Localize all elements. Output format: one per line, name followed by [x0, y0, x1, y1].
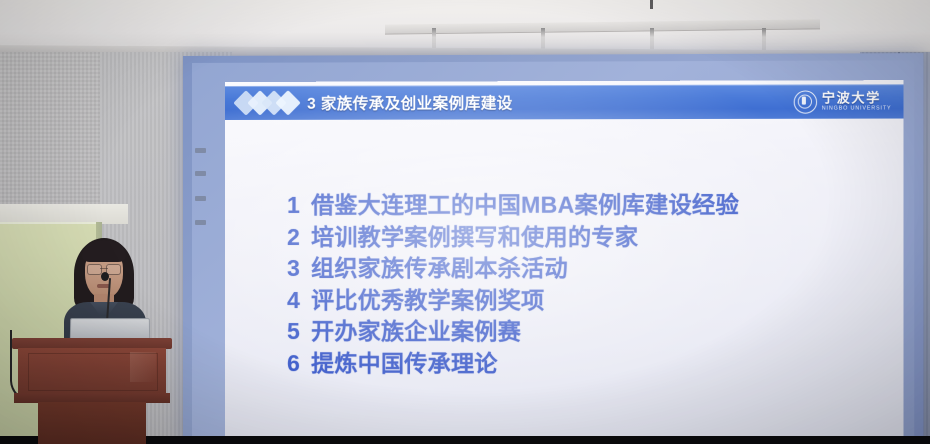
list-item: 3 组织家族传承剧本杀活动	[287, 253, 893, 285]
diamond-cluster-icon	[237, 90, 305, 116]
podium	[12, 338, 172, 444]
list-item-number: 2	[287, 221, 311, 253]
university-logo: 宁波大学 NINGBO UNIVERSITY	[793, 90, 891, 113]
list-item-number: 5	[287, 316, 311, 348]
list-item: 4 评比优秀教学案例奖项	[287, 285, 893, 317]
slide-title: 3 家族传承及创业案例库建设	[307, 91, 513, 114]
presentation-photo-scene: 3 家族传承及创业案例库建设 宁波大学 NINGBO UNIVERSITY 1 …	[0, 0, 930, 444]
list-item: 1 借鉴大连理工的中国MBA案例库建设经验	[287, 189, 893, 221]
microphone-icon	[101, 272, 109, 281]
list-item-label: 评比优秀教学案例奖项	[311, 285, 544, 317]
list-item: 2 培训教学案例撰写和使用的专家	[287, 221, 893, 253]
screen-hinge	[195, 220, 206, 225]
list-item-label: 借鉴大连理工的中国MBA案例库建设经验	[311, 189, 739, 221]
list-item-label: 开办家族企业案例赛	[311, 316, 521, 348]
list-item-number: 1	[287, 190, 311, 222]
screen-hinge	[195, 171, 206, 176]
list-item-label: 提炼中国传承理论	[311, 348, 498, 380]
university-name-en: NINGBO UNIVERSITY	[822, 106, 892, 111]
list-item: 6 提炼中国传承理论	[287, 348, 893, 381]
slide-bullet-list: 1 借鉴大连理工的中国MBA案例库建设经验 2 培训教学案例撰写和使用的专家 3…	[287, 189, 893, 380]
list-item-label: 组织家族传承剧本杀活动	[311, 253, 568, 285]
university-name-cn: 宁波大学	[822, 91, 892, 104]
university-seal-icon	[793, 90, 816, 113]
list-item-number: 6	[287, 348, 311, 380]
screen-hinge	[195, 148, 206, 153]
wall-white-strip	[0, 204, 128, 224]
screen-hinge	[195, 196, 206, 201]
list-item-number: 3	[287, 253, 311, 285]
slide-header-bar: 3 家族传承及创业案例库建设 宁波大学 NINGBO UNIVERSITY	[225, 84, 904, 120]
ceiling-drop-fitting	[650, 0, 653, 9]
list-item-number: 4	[287, 285, 311, 317]
projected-slide: 3 家族传承及创业案例库建设 宁波大学 NINGBO UNIVERSITY 1 …	[225, 80, 904, 444]
list-item-label: 培训教学案例撰写和使用的专家	[311, 221, 638, 253]
list-item: 5 开办家族企业案例赛	[287, 316, 893, 348]
podium-highlight	[130, 352, 156, 382]
podium-base	[38, 402, 146, 444]
